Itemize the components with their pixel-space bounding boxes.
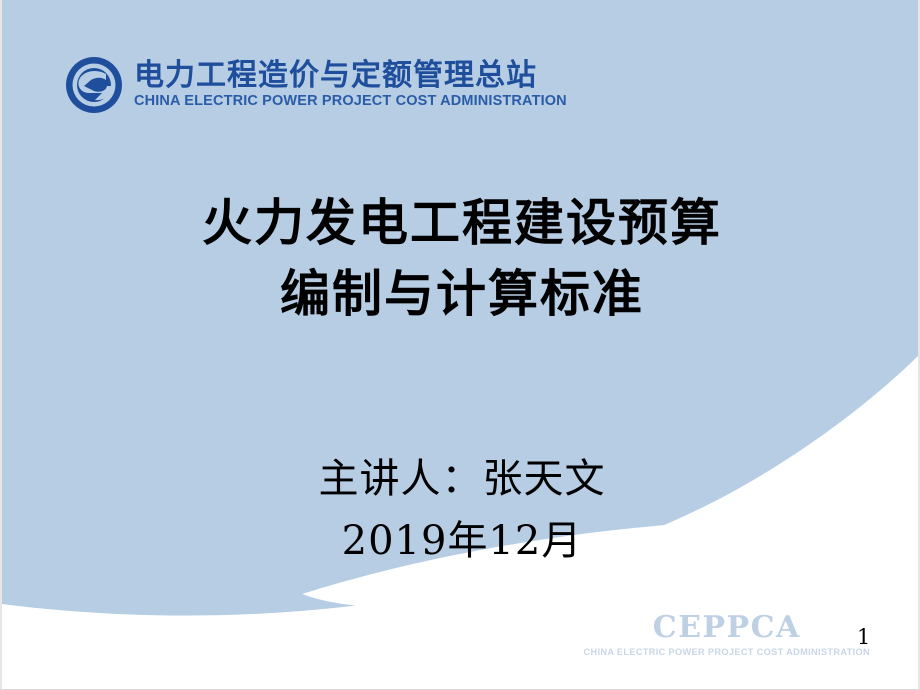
organization-logo-text: 电力工程造价与定额管理总站 CHINA ELECTRIC POWER PROJE… bbox=[134, 61, 567, 109]
title-line-2: 编制与计算标准 bbox=[2, 259, 920, 330]
organization-name-en: CHINA ELECTRIC POWER PROJECT COST ADMINI… bbox=[134, 94, 567, 109]
watermark-acronym: CEPPCA bbox=[584, 613, 870, 643]
title-line-1: 火力发电工程建设预算 bbox=[2, 188, 920, 259]
presentation-slide: 电力工程造价与定额管理总站 CHINA ELECTRIC POWER PROJE… bbox=[0, 0, 920, 690]
watermark-full-name: CHINA ELECTRIC POWER PROJECT COST ADMINI… bbox=[584, 648, 870, 657]
organization-logo: 电力工程造价与定额管理总站 CHINA ELECTRIC POWER PROJE… bbox=[64, 55, 567, 115]
slide-number: 1 bbox=[857, 627, 870, 648]
slide-subtitle: 主讲人：张天文 2019年12月 bbox=[2, 448, 920, 572]
footer-watermark: CEPPCA CHINA ELECTRIC POWER PROJECT COST… bbox=[584, 613, 870, 657]
organization-name-cn: 电力工程造价与定额管理总站 bbox=[134, 61, 567, 91]
presenter-name: 主讲人：张天文 bbox=[2, 448, 920, 510]
slide-title: 火力发电工程建设预算 编制与计算标准 bbox=[2, 188, 920, 330]
ceppca-circle-logo-icon bbox=[64, 55, 124, 115]
presentation-date: 2019年12月 bbox=[2, 510, 920, 572]
